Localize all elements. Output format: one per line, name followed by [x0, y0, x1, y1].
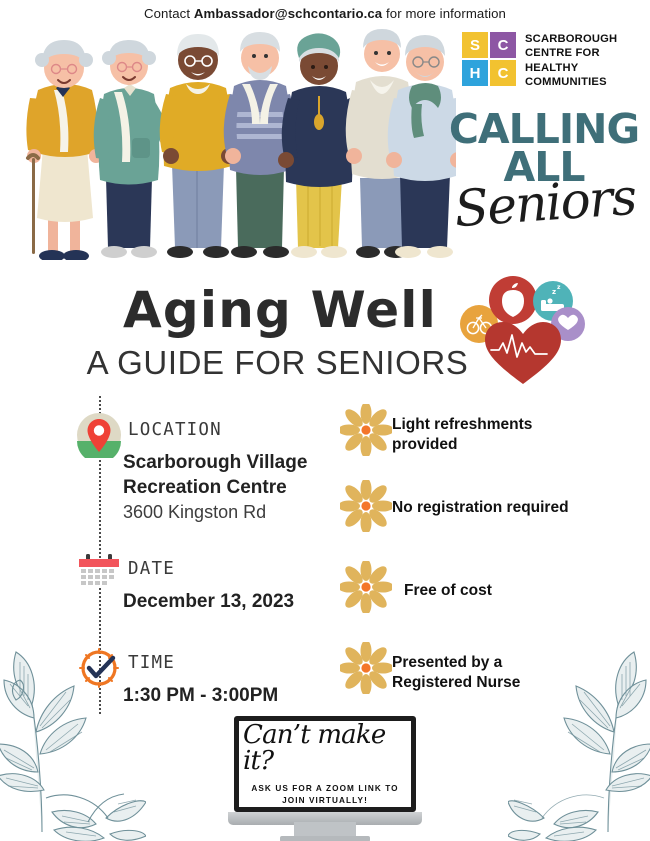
benefit-1-line-1: Light refreshments: [392, 415, 532, 435]
list-item-label: Free of cost: [392, 561, 492, 601]
leaf-branch-right-icon: [508, 622, 650, 841]
detail-label-location: LOCATION: [128, 420, 222, 440]
leaf-branch-left-icon: [0, 622, 146, 841]
laptop-foot: [280, 836, 370, 841]
virtual-headline: Can’t make it?: [243, 722, 407, 774]
logo-name-line-3: HEALTHY: [525, 61, 617, 75]
calendar-icon: [76, 551, 122, 597]
seniors-group-illustration: [8, 28, 456, 260]
list-item: No registration required: [340, 480, 650, 561]
list-item: Light refreshments provided: [340, 404, 650, 480]
poster-canvas: Contact Ambassador@schcontario.ca for mo…: [0, 0, 650, 841]
flower-icon: [340, 480, 392, 532]
benefit-2-line-1: No registration required: [392, 498, 569, 518]
logo-name-line-1: SCARBOROUGH: [525, 32, 617, 46]
svg-text:z: z: [552, 288, 556, 296]
heartbeat-ecg-icon: [485, 322, 561, 384]
apple-icon: [489, 276, 537, 324]
flower-icon: [340, 404, 392, 456]
virtual-attendance-card: Can’t make it? ASK US FOR A ZOOM LINK TO…: [228, 716, 422, 836]
laptop-screen: Can’t make it? ASK US FOR A ZOOM LINK TO…: [243, 725, 407, 803]
benefit-1-line-2: provided: [392, 435, 532, 455]
benefit-4-line-2: Registered Nurse: [392, 673, 520, 693]
benefit-4-line-1: Presented by a: [392, 653, 520, 673]
list-item-label: Light refreshments provided: [392, 404, 532, 454]
seniors-script-heading: Seniors: [439, 171, 650, 236]
logo-letter-grid: S C H C: [462, 32, 516, 86]
benefit-3-line-1: Free of cost: [404, 581, 492, 601]
list-item-label: Presented by a Registered Nurse: [392, 642, 520, 692]
flower-icon: [340, 642, 392, 694]
logo-cell-c2: C: [490, 60, 516, 86]
contact-email[interactable]: Ambassador@schcontario.ca: [194, 6, 382, 21]
virtual-sub-line-2: JOIN VIRTUALLY!: [251, 795, 398, 807]
contact-line: Contact Ambassador@schcontario.ca for mo…: [0, 6, 650, 21]
logo-name-line-2: CENTRE FOR: [525, 46, 617, 60]
logo-org-name: SCARBOROUGH CENTRE FOR HEALTHY COMMUNITI…: [525, 32, 617, 90]
logo-cell-c1: C: [490, 32, 516, 58]
detail-label-date: DATE: [128, 559, 175, 579]
svg-text:z: z: [557, 284, 561, 291]
contact-prefix: Contact: [144, 6, 194, 21]
map-pin-icon: [76, 412, 122, 458]
laptop-icon: Can’t make it? ASK US FOR A ZOOM LINK TO…: [234, 716, 416, 812]
list-item-label: No registration required: [392, 480, 569, 518]
virtual-sub-line-1: ASK US FOR A ZOOM LINK TO: [251, 783, 398, 795]
health-icon-cluster: z z: [460, 272, 585, 390]
schc-logo: S C H C SCARBOROUGH CENTRE FOR HEALTHY C…: [462, 32, 617, 90]
contact-suffix: for more information: [382, 6, 506, 21]
logo-cell-h: H: [462, 60, 488, 86]
logo-name-line-4: COMMUNITIES: [525, 75, 617, 89]
logo-cell-s1: S: [462, 32, 488, 58]
senior-figure-1: [26, 40, 103, 260]
flower-icon: [340, 561, 392, 613]
virtual-subtext: ASK US FOR A ZOOM LINK TO JOIN VIRTUALLY…: [251, 783, 398, 806]
